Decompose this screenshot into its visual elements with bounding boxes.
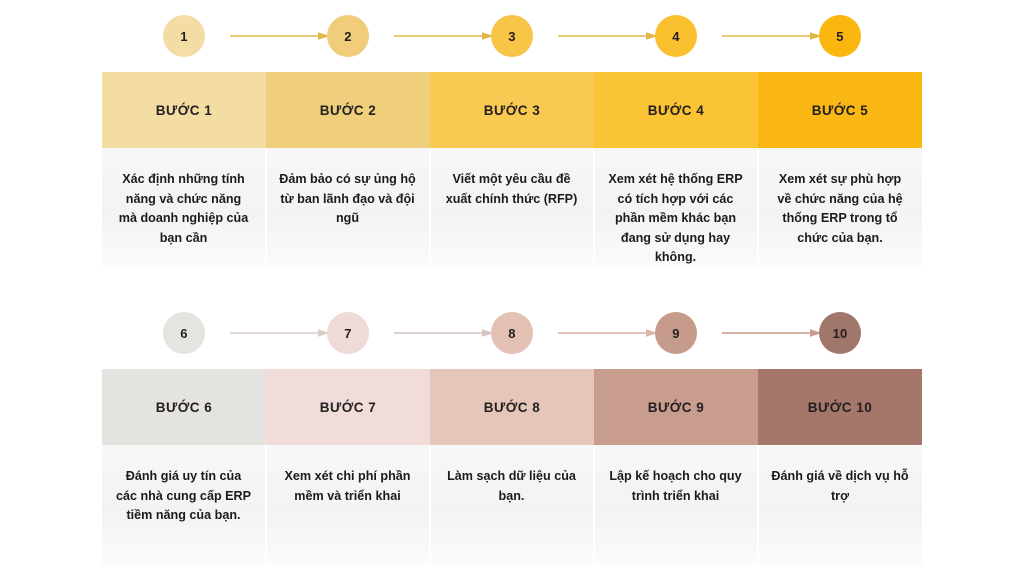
- infographic-canvas: 1 2 3 4 5 BƯỚC 1 BƯỚC 2: [0, 0, 1024, 585]
- step-circle-5: 5: [819, 15, 861, 57]
- step-headers-row-bottom: BƯỚC 6 BƯỚC 7 BƯỚC 8 BƯỚC 9 BƯỚC 10: [102, 369, 922, 445]
- step-circle-number-9: 9: [672, 326, 679, 341]
- step-markers-row-top: 1 2 3 4 5: [102, 13, 922, 59]
- step-body-1: Xác định những tính năng và chức năng mà…: [102, 148, 266, 267]
- step-header-4: BƯỚC 4: [594, 72, 758, 148]
- step-body-6: Đánh giá uy tín của các nhà cung cấp ERP…: [102, 445, 266, 565]
- step-body-3: Viết một yêu cầu đề xuất chính thức (RFP…: [430, 148, 594, 267]
- step-circle-number-5: 5: [836, 29, 843, 44]
- step-header-3: BƯỚC 3: [430, 72, 594, 148]
- step-circle-number-2: 2: [344, 29, 351, 44]
- step-marker-6: 6: [102, 310, 266, 356]
- step-body-8: Làm sạch dữ liệu của bạn.: [430, 445, 594, 565]
- step-circle-number-7: 7: [344, 326, 351, 341]
- step-circle-number-1: 1: [180, 29, 187, 44]
- step-header-8: BƯỚC 8: [430, 369, 594, 445]
- step-circle-7: 7: [327, 312, 369, 354]
- step-header-9: BƯỚC 9: [594, 369, 758, 445]
- step-circle-8: 8: [491, 312, 533, 354]
- step-header-2: BƯỚC 2: [266, 72, 430, 148]
- step-circle-4: 4: [655, 15, 697, 57]
- step-bodies-row-top: Xác định những tính năng và chức năng mà…: [102, 148, 922, 267]
- step-circle-number-8: 8: [508, 326, 515, 341]
- step-body-9: Lập kế hoạch cho quy trình triển khai: [594, 445, 758, 565]
- step-marker-10: 10: [758, 310, 922, 356]
- step-headers-row-top: BƯỚC 1 BƯỚC 2 BƯỚC 3 BƯỚC 4 BƯỚC 5: [102, 72, 922, 148]
- step-marker-4: 4: [594, 13, 758, 59]
- step-header-5: BƯỚC 5: [758, 72, 922, 148]
- step-circle-6: 6: [163, 312, 205, 354]
- step-circle-number-4: 4: [672, 29, 679, 44]
- step-header-6: BƯỚC 6: [102, 369, 266, 445]
- step-header-7: BƯỚC 7: [266, 369, 430, 445]
- step-circle-1: 1: [163, 15, 205, 57]
- step-circle-9: 9: [655, 312, 697, 354]
- step-marker-9: 9: [594, 310, 758, 356]
- step-body-5: Xem xét sự phù hợp về chức năng của hệ t…: [758, 148, 922, 267]
- step-circle-number-10: 10: [833, 326, 848, 341]
- step-body-4: Xem xét hệ thống ERP có tích hợp với các…: [594, 148, 758, 267]
- step-marker-7: 7: [266, 310, 430, 356]
- step-circle-10: 10: [819, 312, 861, 354]
- step-body-7: Xem xét chi phí phần mềm và triển khai: [266, 445, 430, 565]
- step-circle-3: 3: [491, 15, 533, 57]
- step-marker-5: 5: [758, 13, 922, 59]
- step-marker-8: 8: [430, 310, 594, 356]
- step-circle-number-6: 6: [180, 326, 187, 341]
- step-header-1: BƯỚC 1: [102, 72, 266, 148]
- step-header-10: BƯỚC 10: [758, 369, 922, 445]
- step-body-2: Đảm bảo có sự ủng hộ từ ban lãnh đạo và …: [266, 148, 430, 267]
- step-circle-2: 2: [327, 15, 369, 57]
- step-marker-2: 2: [266, 13, 430, 59]
- step-circle-number-3: 3: [508, 29, 515, 44]
- step-marker-3: 3: [430, 13, 594, 59]
- step-body-10: Đánh giá về dịch vụ hỗ trợ: [758, 445, 922, 565]
- step-markers-row-bottom: 6 7 8 9 10: [102, 310, 922, 356]
- step-bodies-row-bottom: Đánh giá uy tín của các nhà cung cấp ERP…: [102, 445, 922, 565]
- step-marker-1: 1: [102, 13, 266, 59]
